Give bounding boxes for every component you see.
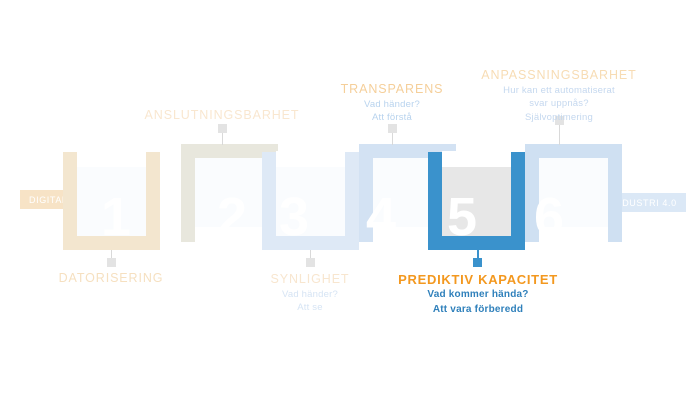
callout-6-title: ANPASSNINGSBARHET [479,68,639,84]
callout-3-title: SYNLIGHET [240,272,380,288]
connector-marker-5 [473,258,482,267]
connector-marker-4 [388,124,397,133]
callout-anslutningsbarhet: ANSLUTNINGSBARHET [132,108,312,124]
connector-marker-1 [107,258,116,267]
callout-6-line-3: Självoptimering [479,111,639,125]
callout-4-line-1: Vad händer? [322,98,462,112]
step-2-number: 2 [217,190,247,244]
callout-prediktiv-kapacitet: PREDIKTIV KAPACITET Vad kommer hända? At… [398,272,558,317]
callout-datorisering: DATORISERING [41,271,181,287]
step-5-number: 5 [447,190,477,244]
callout-5-title: PREDIKTIV KAPACITET [398,272,558,288]
callout-transparens: TRANSPARENS Vad händer? Att förstå [322,82,462,125]
callout-6-line-1: Hur kan ett automatiserat [479,84,639,98]
connector-marker-2 [218,124,227,133]
step-1-open-top [77,151,146,167]
callout-1-title: DATORISERING [41,271,181,287]
infographic-canvas: DIGITALISERING INDUSTRI 4.0 1 2 3 4 5 [0,0,700,400]
step-5-open-top [442,151,511,167]
callout-5-line-1: Vad kommer hända? [398,288,558,303]
step-3[interactable] [262,152,359,250]
callout-3-line-1: Vad händer? [240,288,380,302]
callout-4-title: TRANSPARENS [322,82,462,98]
step-4-number: 4 [366,190,396,244]
step-3-open-top [276,151,345,167]
callout-anpassningsbarhet: ANPASSNINGSBARHET Hur kan ett automatise… [479,68,639,125]
step-1-number: 1 [101,190,131,244]
step-3-number: 3 [279,190,309,244]
callout-2-title: ANSLUTNINGSBARHET [132,108,312,124]
callout-4-line-2: Att förstå [322,111,462,125]
step-6-number: 6 [534,190,564,244]
connector-marker-3 [306,258,315,267]
callout-6-line-2: svar uppnås? [479,97,639,111]
callout-5-line-2: Att vara förberedd [398,303,558,318]
callout-3-line-2: Att se [240,301,380,315]
callout-synlighet: SYNLIGHET Vad händer? Att se [240,272,380,315]
